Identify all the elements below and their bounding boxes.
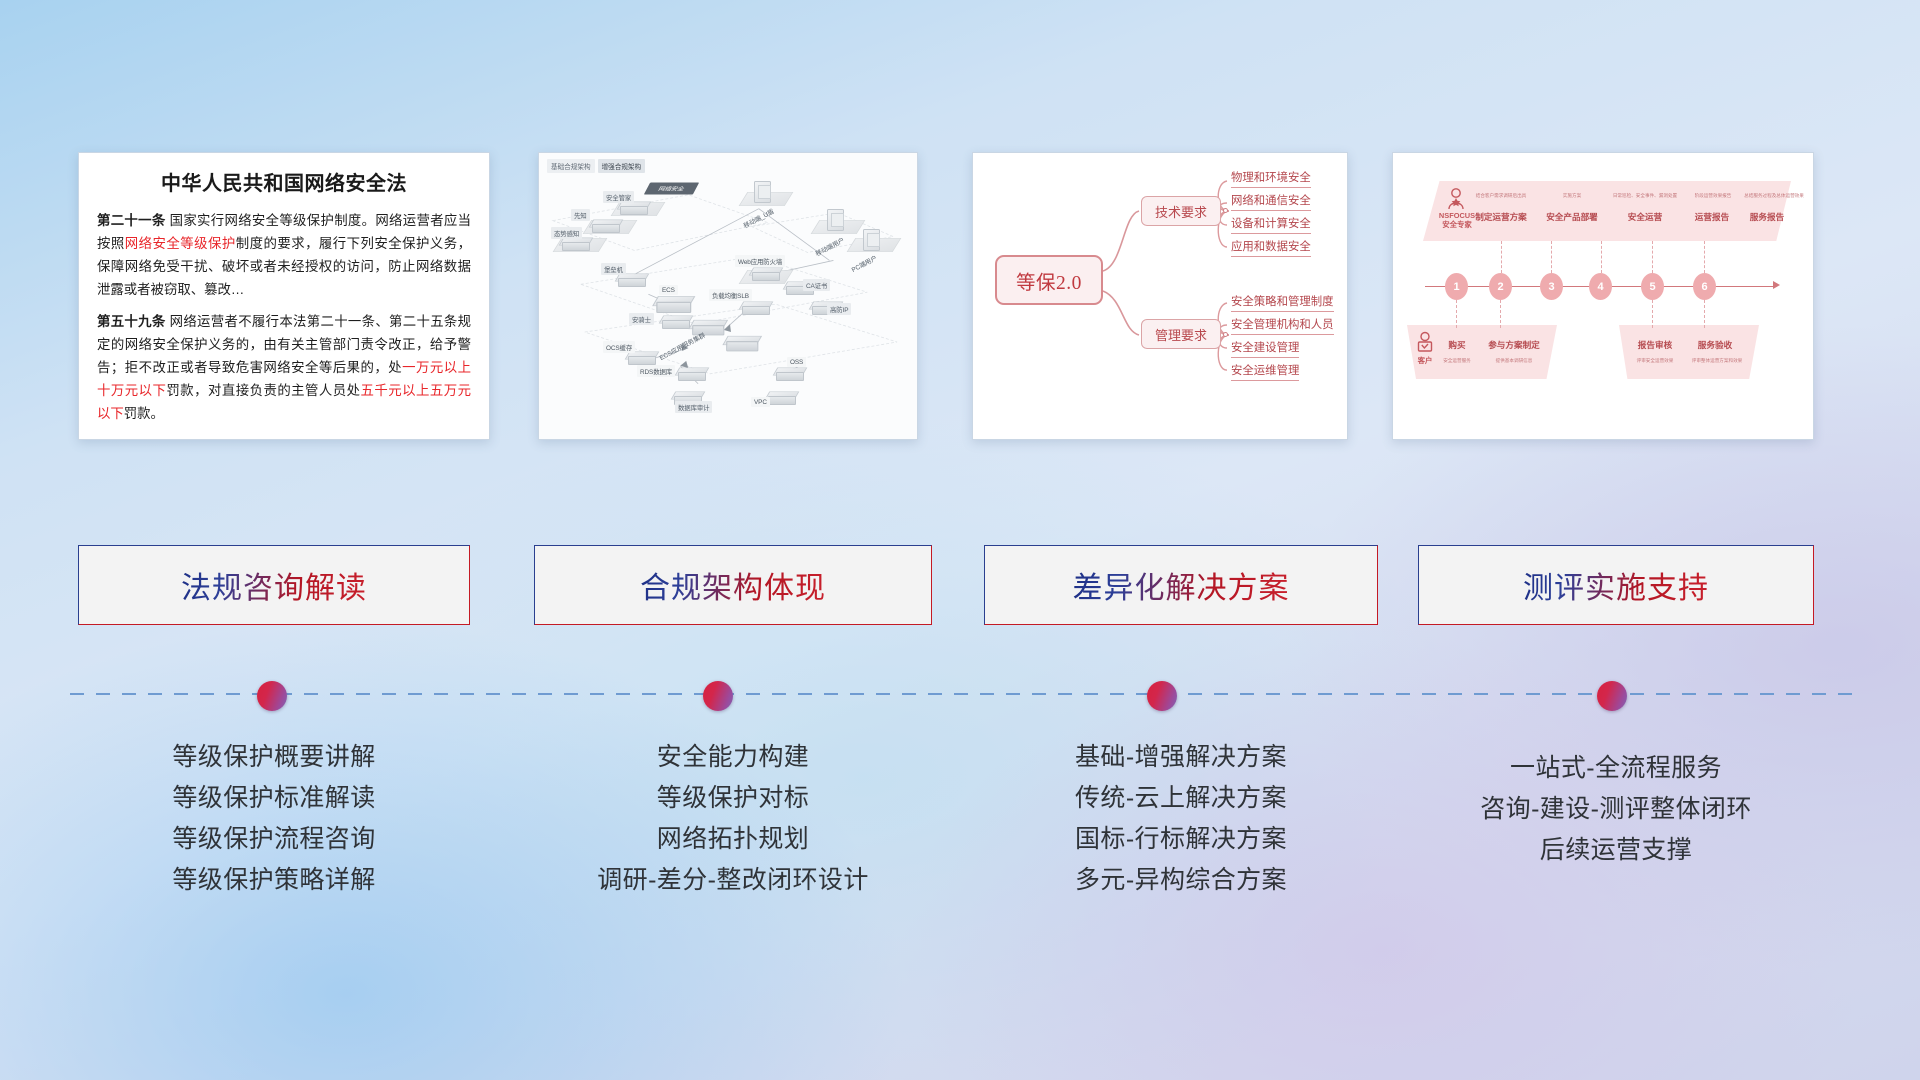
list-item: 后续运营支撑 [1418, 830, 1814, 871]
feature-list-1: 等级保护概要讲解 等级保护标准解读 等级保护流程咨询 等级保护策略详解 [78, 737, 470, 901]
ops-bot-title-1: 参与方案制定 [1479, 339, 1549, 351]
ops-connector-b2 [1500, 300, 1501, 328]
ops-band-bottom-right [1619, 325, 1759, 379]
timeline-dot-4[interactable] [1597, 681, 1627, 711]
ops-top-title-1: 安全产品部署 [1535, 211, 1609, 223]
mindmap-leaf-mgmt-2: 安全建设管理 [1231, 341, 1299, 358]
law-card-body: 中华人民共和国网络安全法 第二十一条 国家实行网络安全等级保护制度。网络运营者应… [79, 153, 489, 440]
list-item: 国标-行标解决方案 [984, 819, 1378, 860]
ops-connector-6 [1704, 241, 1705, 273]
section-heading-text-2: 合规架构体现 [640, 563, 826, 607]
arch-label-network-security: 网络安全 [644, 183, 700, 195]
feature-list-2: 安全能力构建 等级保护对标 网络拓扑规划 调研-差分-整改闭环设计 [534, 737, 932, 901]
mindmap-branch-technical: 技术要求 [1141, 196, 1221, 226]
law-title: 中华人民共和国网络安全法 [97, 167, 471, 196]
arch-monitor-mobile-user [827, 209, 844, 231]
arch-node-app-cluster-2 [725, 333, 760, 357]
arch-label-anti-ddos-ip: 高防IP [827, 303, 851, 315]
timeline-dot-2[interactable] [703, 681, 733, 711]
ops-connector-b6 [1704, 300, 1705, 328]
arch-label-oss: OSS [787, 357, 806, 367]
ops-circle-4: 4 [1589, 273, 1612, 300]
mindmap-root-node: 等保2.0 [995, 255, 1103, 305]
ops-axis-arrow [1773, 281, 1780, 289]
ops-bot-title-2: 报告审核 [1627, 339, 1683, 351]
ops-top-sub-0: 结合客户需求调研后出具 [1465, 193, 1537, 199]
ops-bot-title-0: 购买 [1437, 339, 1477, 351]
section-heading-box-1[interactable]: 法规咨询解读 [78, 545, 470, 625]
law-article-label-21: 第二十一条 [97, 213, 166, 228]
architecture-diagram: 基础合规架构 增强合规架构 [539, 153, 917, 439]
list-item: 传统-云上解决方案 [984, 778, 1378, 819]
ops-bot-sub-0: 安全运营服务 [1433, 358, 1481, 364]
arch-label-db-audit: 数据库审计 [675, 401, 712, 413]
expert-person-icon [1445, 187, 1467, 211]
card-compliance-architecture: 基础合规架构 增强合规架构 [538, 152, 918, 440]
law-seg-1-highlight: 网络安全等级保护 [125, 236, 236, 251]
ops-top-sub-4: 总结服务过程及总体运营效果 [1725, 193, 1814, 199]
section-heading-box-3[interactable]: 差异化解决方案 [984, 545, 1378, 625]
list-item: 等级保护标准解读 [78, 778, 470, 819]
law-paragraph-59: 第五十九条 网络运营者不履行本法第二十一条、第二十五条规定的网络安全保护义务的，… [97, 310, 471, 425]
arch-label-vpc: VPC [751, 397, 770, 407]
mindmap-leaf-mgmt-3: 安全运维管理 [1231, 364, 1299, 381]
ops-circle-6: 6 [1693, 273, 1716, 300]
arch-label-bastion-host: 堡垒机 [601, 263, 626, 275]
arch-node-vpc [767, 389, 797, 410]
mindmap-leaf-mgmt-1: 安全管理机构和人员 [1231, 318, 1334, 335]
section-heading-text-4: 测评实施支持 [1523, 563, 1709, 607]
mindmap: 等保2.0 技术要求 物理和环境安全 网络和通信安全 设备和计算安全 应用和数据… [973, 153, 1347, 439]
arch-label-situational-awareness: 态势感知 [551, 227, 582, 239]
ops-top-title-2: 安全运营 [1609, 211, 1681, 223]
list-item: 调研-差分-整改闭环设计 [534, 860, 932, 901]
mindmap-leaf-tech-1: 网络和通信安全 [1231, 194, 1311, 211]
arch-label-security-butler: 安全管家 [603, 191, 634, 203]
law-article-label-59: 第五十九条 [97, 314, 166, 329]
law-paragraph-21: 第二十一条 国家实行网络安全等级保护制度。网络运营者应当按照网络安全等级保护制度… [97, 209, 471, 301]
list-item: 等级保护概要讲解 [78, 737, 470, 778]
ops-circle-1: 1 [1445, 273, 1468, 300]
list-item: 网络拓扑规划 [534, 819, 932, 860]
section-heading-text-3: 差异化解决方案 [1073, 563, 1290, 607]
mindmap-leaf-tech-0: 物理和环境安全 [1231, 171, 1311, 188]
ops-top-title-4: 服务报告 [1733, 211, 1801, 223]
arch-node-xianzhi [591, 217, 621, 238]
card-operations-timeline: NSFOCUS 安全专家 客户 结合客户需求调研后出具 制定运营方案 实施方案 … [1392, 152, 1814, 440]
customer-person-icon [1415, 331, 1435, 355]
card-cybersecurity-law: 中华人民共和国网络安全法 第二十一条 国家实行网络安全等级保护制度。网络运营者应… [78, 152, 490, 440]
mindmap-leaf-tech-3: 应用和数据安全 [1231, 240, 1311, 257]
timeline-dashed-line [70, 693, 1854, 695]
section-heading-box-2[interactable]: 合规架构体现 [534, 545, 932, 625]
ops-connector-2 [1501, 241, 1502, 273]
list-item: 等级保护策略详解 [78, 860, 470, 901]
mindmap-branch-management: 管理要求 [1141, 319, 1221, 349]
ops-bot-sub-3: 评审整体运营方案和效果 [1679, 358, 1755, 364]
ops-top-title-0: 制定运营方案 [1465, 211, 1537, 223]
ops-bot-sub-1: 提供基本调研信息 [1481, 358, 1547, 364]
ops-bot-title-3: 服务验收 [1687, 339, 1743, 351]
section-heading-text-1: 法规咨询解读 [181, 563, 367, 607]
list-item: 咨询-建设-测评整体闭环 [1418, 789, 1814, 830]
card-mindmap-dengbao: 等保2.0 技术要求 物理和环境安全 网络和通信安全 设备和计算安全 应用和数据… [972, 152, 1348, 440]
arch-label-ocs-cache: OCS缓存 [603, 341, 635, 353]
mindmap-leaf-tech-2: 设备和计算安全 [1231, 217, 1311, 234]
ops-connector-3 [1551, 241, 1552, 273]
list-item: 安全能力构建 [534, 737, 932, 778]
list-item: 基础-增强解决方案 [984, 737, 1378, 778]
arch-node-rds [677, 365, 707, 386]
arch-monitor-ukey [754, 181, 771, 203]
law59-seg-2: 罚款，对直接负责的主管人员处 [166, 383, 360, 398]
arch-label-waf: Web应用防火墙 [735, 255, 785, 267]
arch-node-anqishi [661, 313, 691, 334]
mindmap-dot-technical [1223, 208, 1228, 213]
law59-seg-4: 罚款。 [124, 406, 164, 421]
arch-label-ca-cert: CA证书 [803, 279, 830, 291]
arch-node-waf [751, 265, 781, 286]
arch-node-oss [775, 365, 805, 386]
arch-label-xianzhi: 先知 [571, 209, 590, 221]
ops-circle-3: 3 [1540, 273, 1563, 300]
list-item: 一站式-全流程服务 [1418, 748, 1814, 789]
ops-top-sub-1: 实施方案 [1543, 193, 1601, 199]
ops-connector-b5 [1652, 300, 1653, 328]
mindmap-leaf-mgmt-0: 安全策略和管理制度 [1231, 295, 1334, 312]
ops-connector-5 [1652, 241, 1653, 273]
arch-label-anqishi: 安骑士 [629, 313, 654, 325]
timeline-dot-1[interactable] [257, 681, 287, 711]
ops-connector-4 [1601, 241, 1602, 273]
list-item: 等级保护对标 [534, 778, 932, 819]
arch-label-ecs: ECS [659, 285, 678, 295]
preview-cards-row: 中华人民共和国网络安全法 第二十一条 国家实行网络安全等级保护制度。网络运营者应… [0, 152, 1920, 447]
feature-list-4: 一站式-全流程服务 咨询-建设-测评整体闭环 后续运营支撑 [1418, 748, 1814, 871]
arch-node-slb [741, 299, 771, 320]
section-heading-box-4[interactable]: 测评实施支持 [1418, 545, 1814, 625]
arch-monitor-pc-user [863, 229, 880, 251]
mindmap-dot-management [1223, 332, 1228, 337]
operations-diagram: NSFOCUS 安全专家 客户 结合客户需求调研后出具 制定运营方案 实施方案 … [1393, 153, 1813, 439]
ops-circle-5: 5 [1641, 273, 1664, 300]
list-item: 等级保护流程咨询 [78, 819, 470, 860]
ops-connector-b1 [1456, 300, 1457, 328]
timeline-dot-3[interactable] [1147, 681, 1177, 711]
feature-list-3: 基础-增强解决方案 传统-云上解决方案 国标-行标解决方案 多元-异构综合方案 [984, 737, 1378, 901]
list-item: 多元-异构综合方案 [984, 860, 1378, 901]
ops-bot-sub-2: 评审安全运营效果 [1623, 358, 1687, 364]
arch-label-slb: 负载均衡SLB [709, 289, 752, 301]
arch-label-rds: RDS数据库 [637, 365, 675, 377]
ops-circle-2: 2 [1489, 273, 1512, 300]
